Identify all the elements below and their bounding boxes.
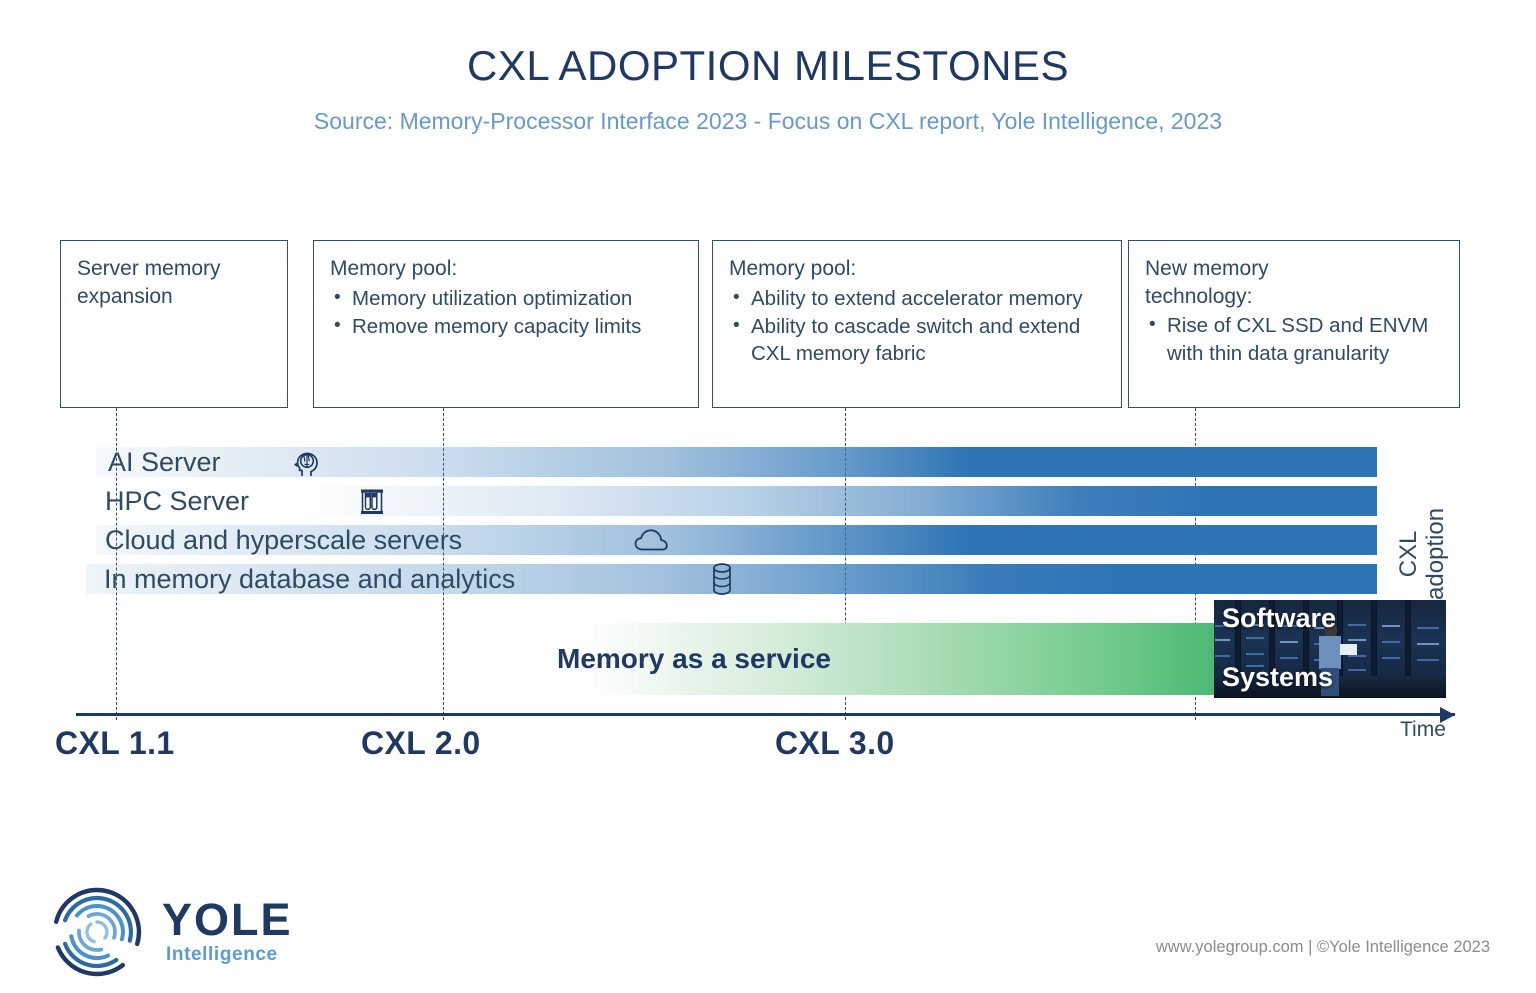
brand-name: YOLE xyxy=(162,894,293,946)
milestone-box-2: Memory pool: Memory utilization optimiza… xyxy=(313,240,699,408)
list-item: Memory utilization optimization xyxy=(330,285,682,312)
list-item: Ability to cascade switch and extend CXL… xyxy=(729,313,1105,368)
rack-led xyxy=(1280,641,1298,643)
milestone-box-1-heading: Server memory expansion xyxy=(77,255,271,310)
list-item: Ability to extend accelerator memory xyxy=(729,285,1105,312)
rack-led xyxy=(1382,625,1400,627)
cxl-adoption-line1: CXL xyxy=(1395,531,1422,578)
maas-bar-label: Memory as a service xyxy=(557,623,831,695)
milestone-box-3-heading: Memory pool: xyxy=(729,255,1105,283)
rack-led xyxy=(1417,643,1439,645)
timeline-tick-cxl-1-1: CXL 1.1 xyxy=(55,725,175,762)
milestone-box-2-heading: Memory pool: xyxy=(330,255,682,283)
rack-led xyxy=(1246,637,1264,639)
rack-led xyxy=(1382,641,1400,643)
photo-person-laptop xyxy=(1340,644,1357,655)
rack-led xyxy=(1280,657,1298,659)
rack-led xyxy=(1348,624,1366,626)
milestone-box-4-bullets: Rise of CXL SSD and ENVM with thin data … xyxy=(1145,312,1443,367)
rack-led xyxy=(1348,639,1366,641)
list-item: Remove memory capacity limits xyxy=(330,313,682,340)
milestone-box-3: Memory pool: Ability to extend accelerat… xyxy=(712,240,1122,408)
timeline-tick-cxl-2-0: CXL 2.0 xyxy=(361,725,481,762)
rack-led xyxy=(1417,659,1439,661)
page-title: CXL ADOPTION MILESTONES xyxy=(0,42,1536,90)
rack-led xyxy=(1348,655,1366,657)
milestone-box-3-bullets: Ability to extend accelerator memory Abi… xyxy=(729,285,1105,368)
list-item: Rise of CXL SSD and ENVM with thin data … xyxy=(1145,312,1443,367)
timeline-tick-cxl-3-0: CXL 3.0 xyxy=(775,725,895,762)
adoption-bar-ai-server xyxy=(96,447,1377,477)
adoption-bar-label-cloud-servers: Cloud and hyperscale servers xyxy=(105,525,462,555)
photo-caption-line1: Software xyxy=(1222,603,1336,634)
milestone-box-2-bullets: Memory utilization optimization Remove m… xyxy=(330,285,682,341)
brand-logo: YOLE Intelligence xyxy=(44,884,304,980)
cxl-adoption-line2: adoption xyxy=(1422,508,1449,600)
brand-tagline: Intelligence xyxy=(166,944,278,966)
infographic-root: CXL ADOPTION MILESTONES Source: Memory-P… xyxy=(0,0,1536,993)
adoption-bar-hpc-server xyxy=(300,486,1377,516)
rack-led xyxy=(1417,627,1439,629)
milestone-box-1: Server memory expansion xyxy=(60,240,288,408)
photo-caption-line2: Systems xyxy=(1222,662,1333,693)
test-tube-rack-icon xyxy=(355,484,389,518)
adoption-bar-label-ai-server: AI Server xyxy=(108,447,221,477)
timeline-axis-label: Time xyxy=(1400,718,1446,742)
rack-led xyxy=(1215,655,1230,657)
rack-led xyxy=(1382,657,1400,659)
database-icon xyxy=(709,563,735,595)
adoption-bar-label-hpc-server: HPC Server xyxy=(105,486,249,516)
milestone-box-4-heading: New memory technology: xyxy=(1145,255,1443,310)
datacenter-photo: Software Systems xyxy=(1214,600,1446,698)
page-subtitle: Source: Memory-Processor Interface 2023 … xyxy=(0,108,1536,135)
milestone-box-4: New memory technology: Rise of CXL SSD a… xyxy=(1128,240,1460,408)
timeline-axis xyxy=(76,713,1455,716)
rack-led xyxy=(1246,653,1264,655)
rack-led xyxy=(1348,669,1366,671)
rack-led xyxy=(1215,639,1230,641)
footer-credit: www.yolegroup.com | ©Yole Intelligence 2… xyxy=(1156,938,1490,957)
yole-rings-icon xyxy=(44,884,150,980)
brain-head-icon xyxy=(291,446,323,478)
cxl-adoption-axis-label: CXL adoption xyxy=(1396,508,1450,600)
adoption-bar-label-in-memory-db: In memory database and analytics xyxy=(104,564,515,594)
cloud-icon xyxy=(633,527,671,555)
